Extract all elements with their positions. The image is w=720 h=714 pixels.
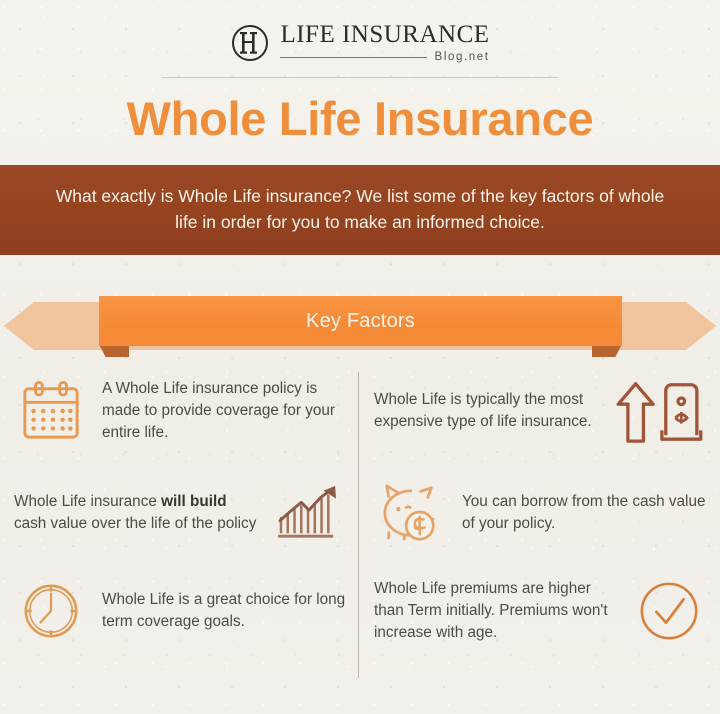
logo-tagline: Blog.net (435, 52, 490, 64)
page-title: Whole Life Insurance (0, 92, 720, 146)
header-divider (162, 77, 558, 78)
list-item: Whole Life insurance will build cash val… (14, 476, 346, 550)
arrow-up-money-icon (610, 374, 706, 448)
growth-bar-chart-icon (272, 476, 346, 550)
factors-column-right: Whole Life is typically the most expensi… (374, 368, 714, 688)
key-factors-ribbon: Key Factors (0, 296, 720, 358)
list-item-text: Whole Life is a great choice for long te… (102, 589, 346, 632)
calendar-icon (14, 374, 88, 448)
list-item: Whole Life premiums are higher than Term… (374, 574, 706, 648)
column-divider (358, 372, 359, 678)
life-insurance-monogram-icon (230, 23, 270, 63)
list-item-text: Whole Life premiums are higher than Term… (374, 578, 618, 643)
text-emphasis: will build (161, 493, 226, 510)
logo-wordmark: Life Insurance Blog.net (280, 22, 489, 64)
infographic-canvas: Life Insurance Blog.net Whole Life Insur… (0, 0, 720, 714)
check-circle-icon (632, 574, 706, 648)
logo-brand-name: Life Insurance (280, 22, 489, 47)
logo-tagline-row: Blog.net (280, 52, 489, 64)
text-part: cash value over the life of the policy (14, 515, 256, 532)
text-part: Whole Life insurance (14, 493, 161, 510)
list-item: Whole Life is a great choice for long te… (14, 574, 346, 648)
list-item-text: You can borrow from the cash value of yo… (462, 491, 706, 534)
list-item-text: Whole Life is typically the most expensi… (374, 389, 596, 432)
ribbon-center-panel: Key Factors (99, 296, 622, 346)
site-logo: Life Insurance Blog.net (0, 22, 720, 64)
intro-banner: What exactly is Whole Life insurance? We… (0, 165, 720, 255)
ribbon-label: Key Factors (306, 310, 415, 333)
logo-rule (280, 57, 426, 58)
list-item: You can borrow from the cash value of yo… (374, 476, 706, 550)
list-item-text: Whole Life insurance will build cash val… (14, 491, 258, 534)
factors-column-left: A Whole Life insurance policy is made to… (14, 368, 354, 688)
list-item: Whole Life is typically the most expensi… (374, 374, 706, 448)
intro-text: What exactly is Whole Life insurance? We… (50, 184, 670, 236)
clock-icon (14, 574, 88, 648)
list-item-text: A Whole Life insurance policy is made to… (102, 378, 346, 443)
list-item: A Whole Life insurance policy is made to… (14, 374, 346, 448)
piggy-bank-icon (374, 476, 448, 550)
factors-grid: A Whole Life insurance policy is made to… (0, 368, 720, 688)
